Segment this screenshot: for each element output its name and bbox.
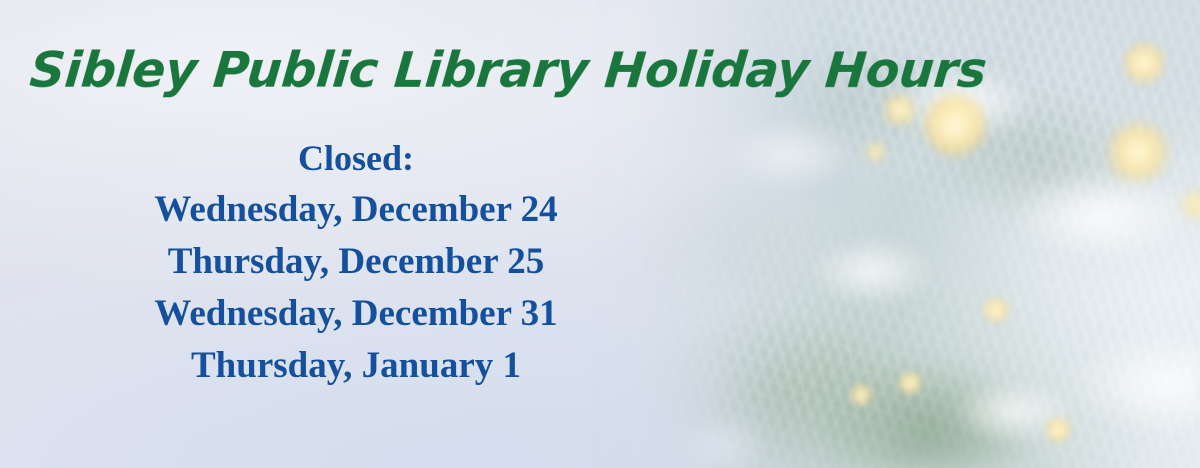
page-title: Sibley Public Library Holiday Hours: [28, 46, 989, 95]
closed-label: Closed:: [0, 132, 712, 184]
closure-date: Thursday, January 1: [0, 340, 712, 392]
closure-date: Wednesday, December 24: [0, 184, 712, 236]
holiday-closure-notice: Closed: Wednesday, December 24 Thursday,…: [0, 132, 712, 392]
closure-date: Wednesday, December 31: [0, 288, 712, 340]
closure-date: Thursday, December 25: [0, 236, 712, 288]
holiday-hours-banner: Sibley Public Library Holiday Hours Clos…: [0, 0, 1200, 468]
